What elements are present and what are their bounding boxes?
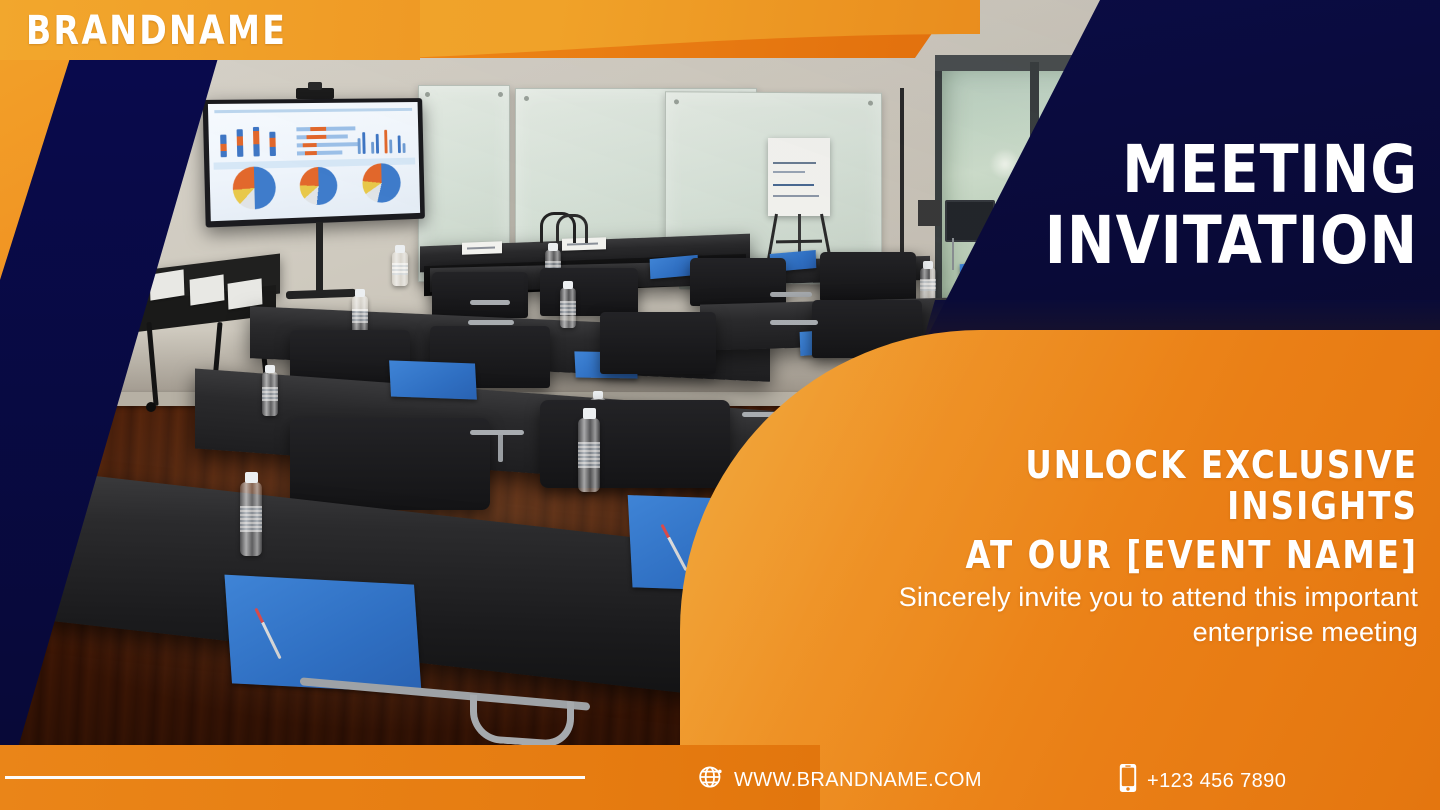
headline: UNLOCK EXCLUSIVE INSIGHTS AT OUR [EVENT … <box>798 445 1418 576</box>
subtitle: Sincerely invite you to attend this impo… <box>798 580 1418 650</box>
website-contact[interactable]: WWW.BRANDNAME.COM <box>697 763 982 797</box>
website-label: WWW.BRANDNAME.COM <box>734 769 982 792</box>
poster-text: BRANDNAME MEETING INVITATION UNLOCK EXCL… <box>0 0 1440 810</box>
phone-contact[interactable]: +123 456 7890 <box>1118 763 1286 799</box>
footer-contacts: WWW.BRANDNAME.COM +123 456 7890 <box>0 745 1440 810</box>
page-title-line-1: MEETING <box>804 140 1418 201</box>
headline-line-2: AT OUR [EVENT NAME] <box>829 535 1418 576</box>
globe-icon <box>697 763 725 797</box>
meeting-invitation-poster: BRANDNAME MEETING INVITATION UNLOCK EXCL… <box>0 0 1440 810</box>
page-title: MEETING INVITATION <box>778 140 1418 271</box>
headline-line-1: UNLOCK EXCLUSIVE INSIGHTS <box>829 445 1418 527</box>
mobile-phone-icon <box>1118 763 1138 799</box>
page-title-line-2: INVITATION <box>804 211 1418 272</box>
phone-label: +123 456 7890 <box>1147 770 1286 793</box>
brand-name: BRANDNAME <box>26 8 287 54</box>
